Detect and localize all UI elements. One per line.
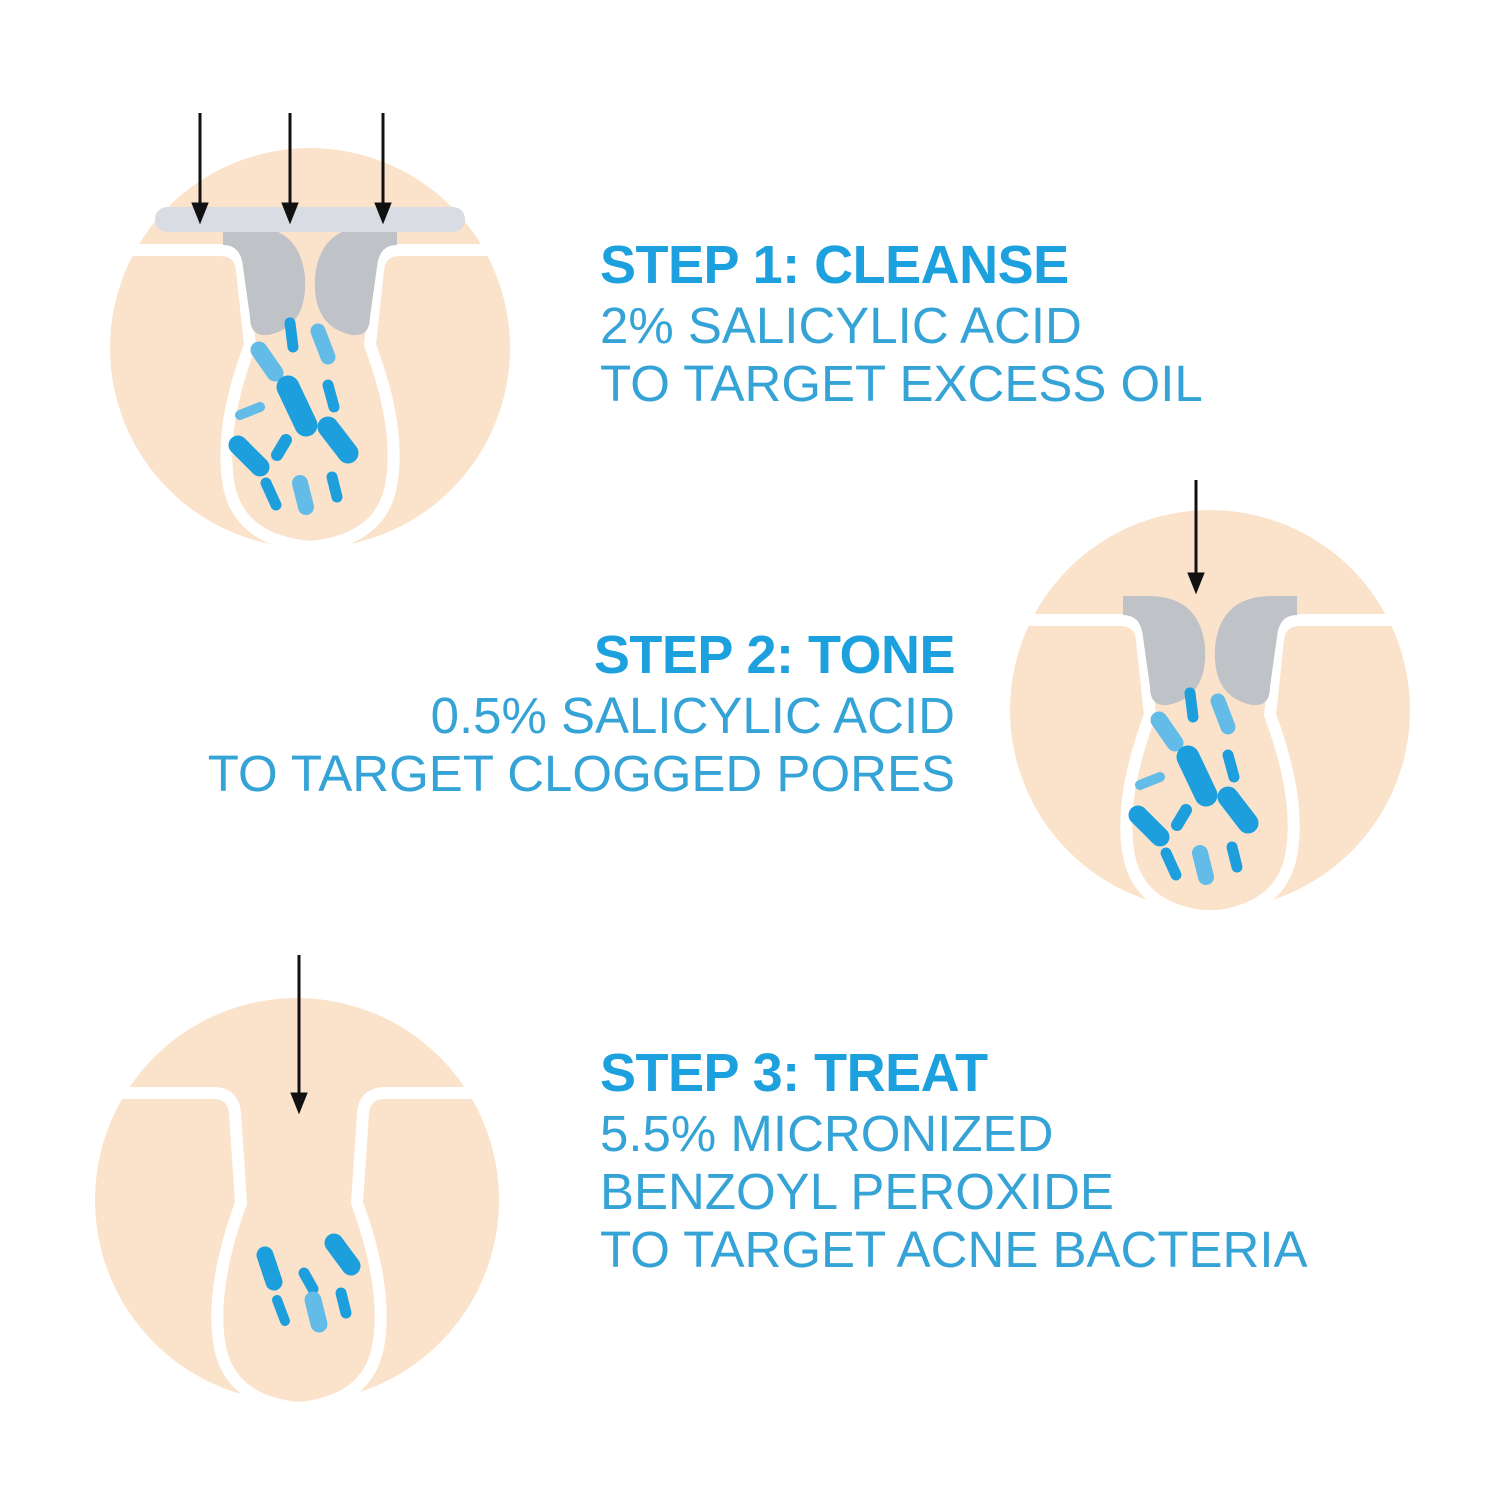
step-1-title: STEP 1: CLEANSE bbox=[600, 238, 1320, 293]
step-3-illustration bbox=[85, 955, 515, 1405]
step-1-illustration bbox=[100, 95, 520, 565]
step-1-line-1: 2% SALICYLIC ACID bbox=[600, 297, 1320, 355]
step-2-illustration bbox=[1000, 470, 1420, 920]
skin-circle bbox=[1010, 510, 1410, 910]
step-3-title: STEP 3: TREAT bbox=[600, 1046, 1430, 1101]
step-1-line-2: TO TARGET EXCESS OIL bbox=[600, 355, 1320, 413]
skin-circle bbox=[95, 998, 499, 1402]
step-2-line-2: TO TARGET CLOGGED PORES bbox=[90, 745, 955, 803]
step-1-text: STEP 1: CLEANSE 2% SALICYLIC ACID TO TAR… bbox=[600, 238, 1320, 413]
step-3-line-1: 5.5% MICRONIZED bbox=[600, 1105, 1430, 1163]
step-3-line-2: BENZOYL PEROXIDE bbox=[600, 1163, 1430, 1221]
step-3-line-3: TO TARGET ACNE BACTERIA bbox=[600, 1221, 1430, 1279]
infographic-page: STEP 1: CLEANSE 2% SALICYLIC ACID TO TAR… bbox=[0, 0, 1500, 1499]
step-2-text: STEP 2: TONE 0.5% SALICYLIC ACID TO TARG… bbox=[90, 628, 955, 803]
step-2-title: STEP 2: TONE bbox=[90, 628, 955, 683]
step-2-line-1: 0.5% SALICYLIC ACID bbox=[90, 687, 955, 745]
step-3-text: STEP 3: TREAT 5.5% MICRONIZED BENZOYL PE… bbox=[600, 1046, 1430, 1279]
